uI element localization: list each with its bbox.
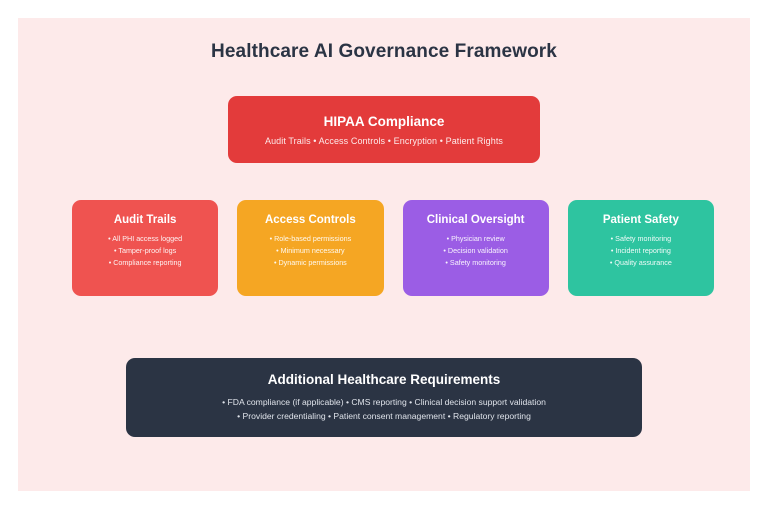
additional-requirements-panel[interactable]: Additional Healthcare Requirements • FDA…	[126, 358, 642, 437]
hipaa-banner-title: HIPAA Compliance	[324, 114, 445, 129]
pillar-card-item: • Quality assurance	[610, 258, 672, 267]
page-title: Healthcare AI Governance Framework	[18, 41, 750, 63]
hipaa-banner-subtitle: Audit Trails • Access Controls • Encrypt…	[265, 136, 503, 146]
pillar-card-title: Clinical Oversight	[427, 214, 525, 226]
pillar-card-item-list: • Safety monitoring • Incident reporting…	[610, 234, 672, 267]
pillar-card-item: • All PHI access logged	[108, 234, 182, 243]
pillar-card-item: • Physician review	[447, 234, 505, 243]
pillar-card-item: • Tamper-proof logs	[114, 246, 176, 255]
pillar-card-item: • Decision validation	[443, 246, 507, 255]
hipaa-compliance-banner[interactable]: HIPAA Compliance Audit Trails • Access C…	[228, 96, 540, 163]
pillar-card-item: • Compliance reporting	[109, 258, 182, 267]
pillar-card-item: • Safety monitoring	[445, 258, 505, 267]
additional-requirements-line: • FDA compliance (if applicable) • CMS r…	[222, 396, 546, 409]
pillar-card-title: Access Controls	[265, 214, 356, 226]
pillar-card-grid: Audit Trails • All PHI access logged • T…	[72, 200, 714, 296]
additional-requirements-title: Additional Healthcare Requirements	[268, 372, 501, 387]
pillar-card-patient-safety[interactable]: Patient Safety • Safety monitoring • Inc…	[568, 200, 714, 296]
pillar-card-item: • Dynamic permissions	[274, 258, 347, 267]
pillar-card-item: • Safety monitoring	[611, 234, 671, 243]
additional-requirements-line: • Provider credentialing • Patient conse…	[237, 410, 531, 423]
pillar-card-item-list: • All PHI access logged • Tamper-proof l…	[108, 234, 182, 267]
framework-diagram-panel: Healthcare AI Governance Framework HIPAA…	[18, 18, 750, 491]
pillar-card-title: Patient Safety	[603, 214, 679, 226]
pillar-card-item: • Role-based permissions	[270, 234, 352, 243]
pillar-card-item-list: • Physician review • Decision validation…	[443, 234, 507, 267]
pillar-card-audit-trails[interactable]: Audit Trails • All PHI access logged • T…	[72, 200, 218, 296]
pillar-card-clinical-oversight[interactable]: Clinical Oversight • Physician review • …	[403, 200, 549, 296]
pillar-card-access-controls[interactable]: Access Controls • Role-based permissions…	[237, 200, 383, 296]
pillar-card-title: Audit Trails	[114, 214, 177, 226]
pillar-card-item: • Minimum necessary	[276, 246, 344, 255]
pillar-card-item: • Incident reporting	[611, 246, 671, 255]
pillar-card-item-list: • Role-based permissions • Minimum neces…	[270, 234, 352, 267]
